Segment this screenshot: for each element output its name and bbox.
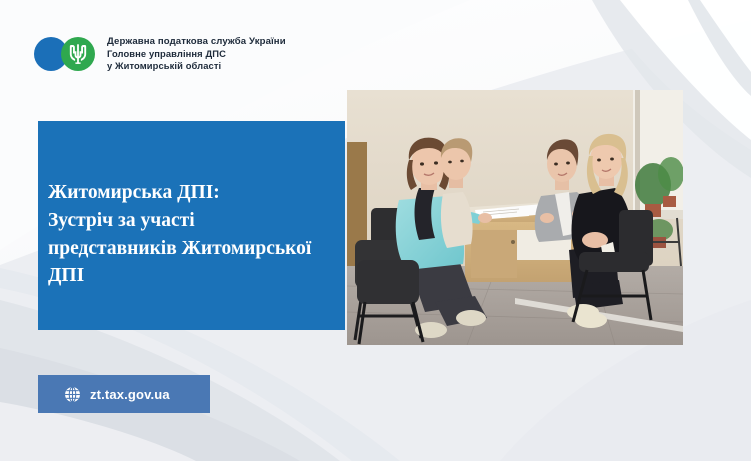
logo-marks [34,37,98,71]
site-url-label: zt.tax.gov.ua [90,387,170,402]
globe-icon [64,386,81,403]
headline-line-2: Зустріч за участі [48,207,311,235]
trident-icon [61,37,95,71]
dps-logo-lockup: Державна податкова служба України Головн… [34,36,286,71]
org-name-line3: у Житомирській області [107,60,286,72]
headline-text: Житомирська ДПІ: Зустріч за участі предс… [38,179,319,290]
org-name-line2: Головне управління ДПС [107,48,286,60]
headline-panel: Житомирська ДПІ: Зустріч за участі предс… [38,121,345,330]
headline-line-1: Житомирська ДПІ: [48,179,311,207]
headline-line-3: представників Житомирської [48,235,311,263]
org-name-line1: Державна податкова служба України [107,36,286,48]
website-badge[interactable]: zt.tax.gov.ua [38,375,210,413]
meeting-photo [347,90,683,345]
headline-line-4: ДПІ [48,262,311,290]
announcement-card: Державна податкова служба України Головн… [0,0,751,461]
logo-text-block: Державна податкова служба України Головн… [107,36,286,71]
